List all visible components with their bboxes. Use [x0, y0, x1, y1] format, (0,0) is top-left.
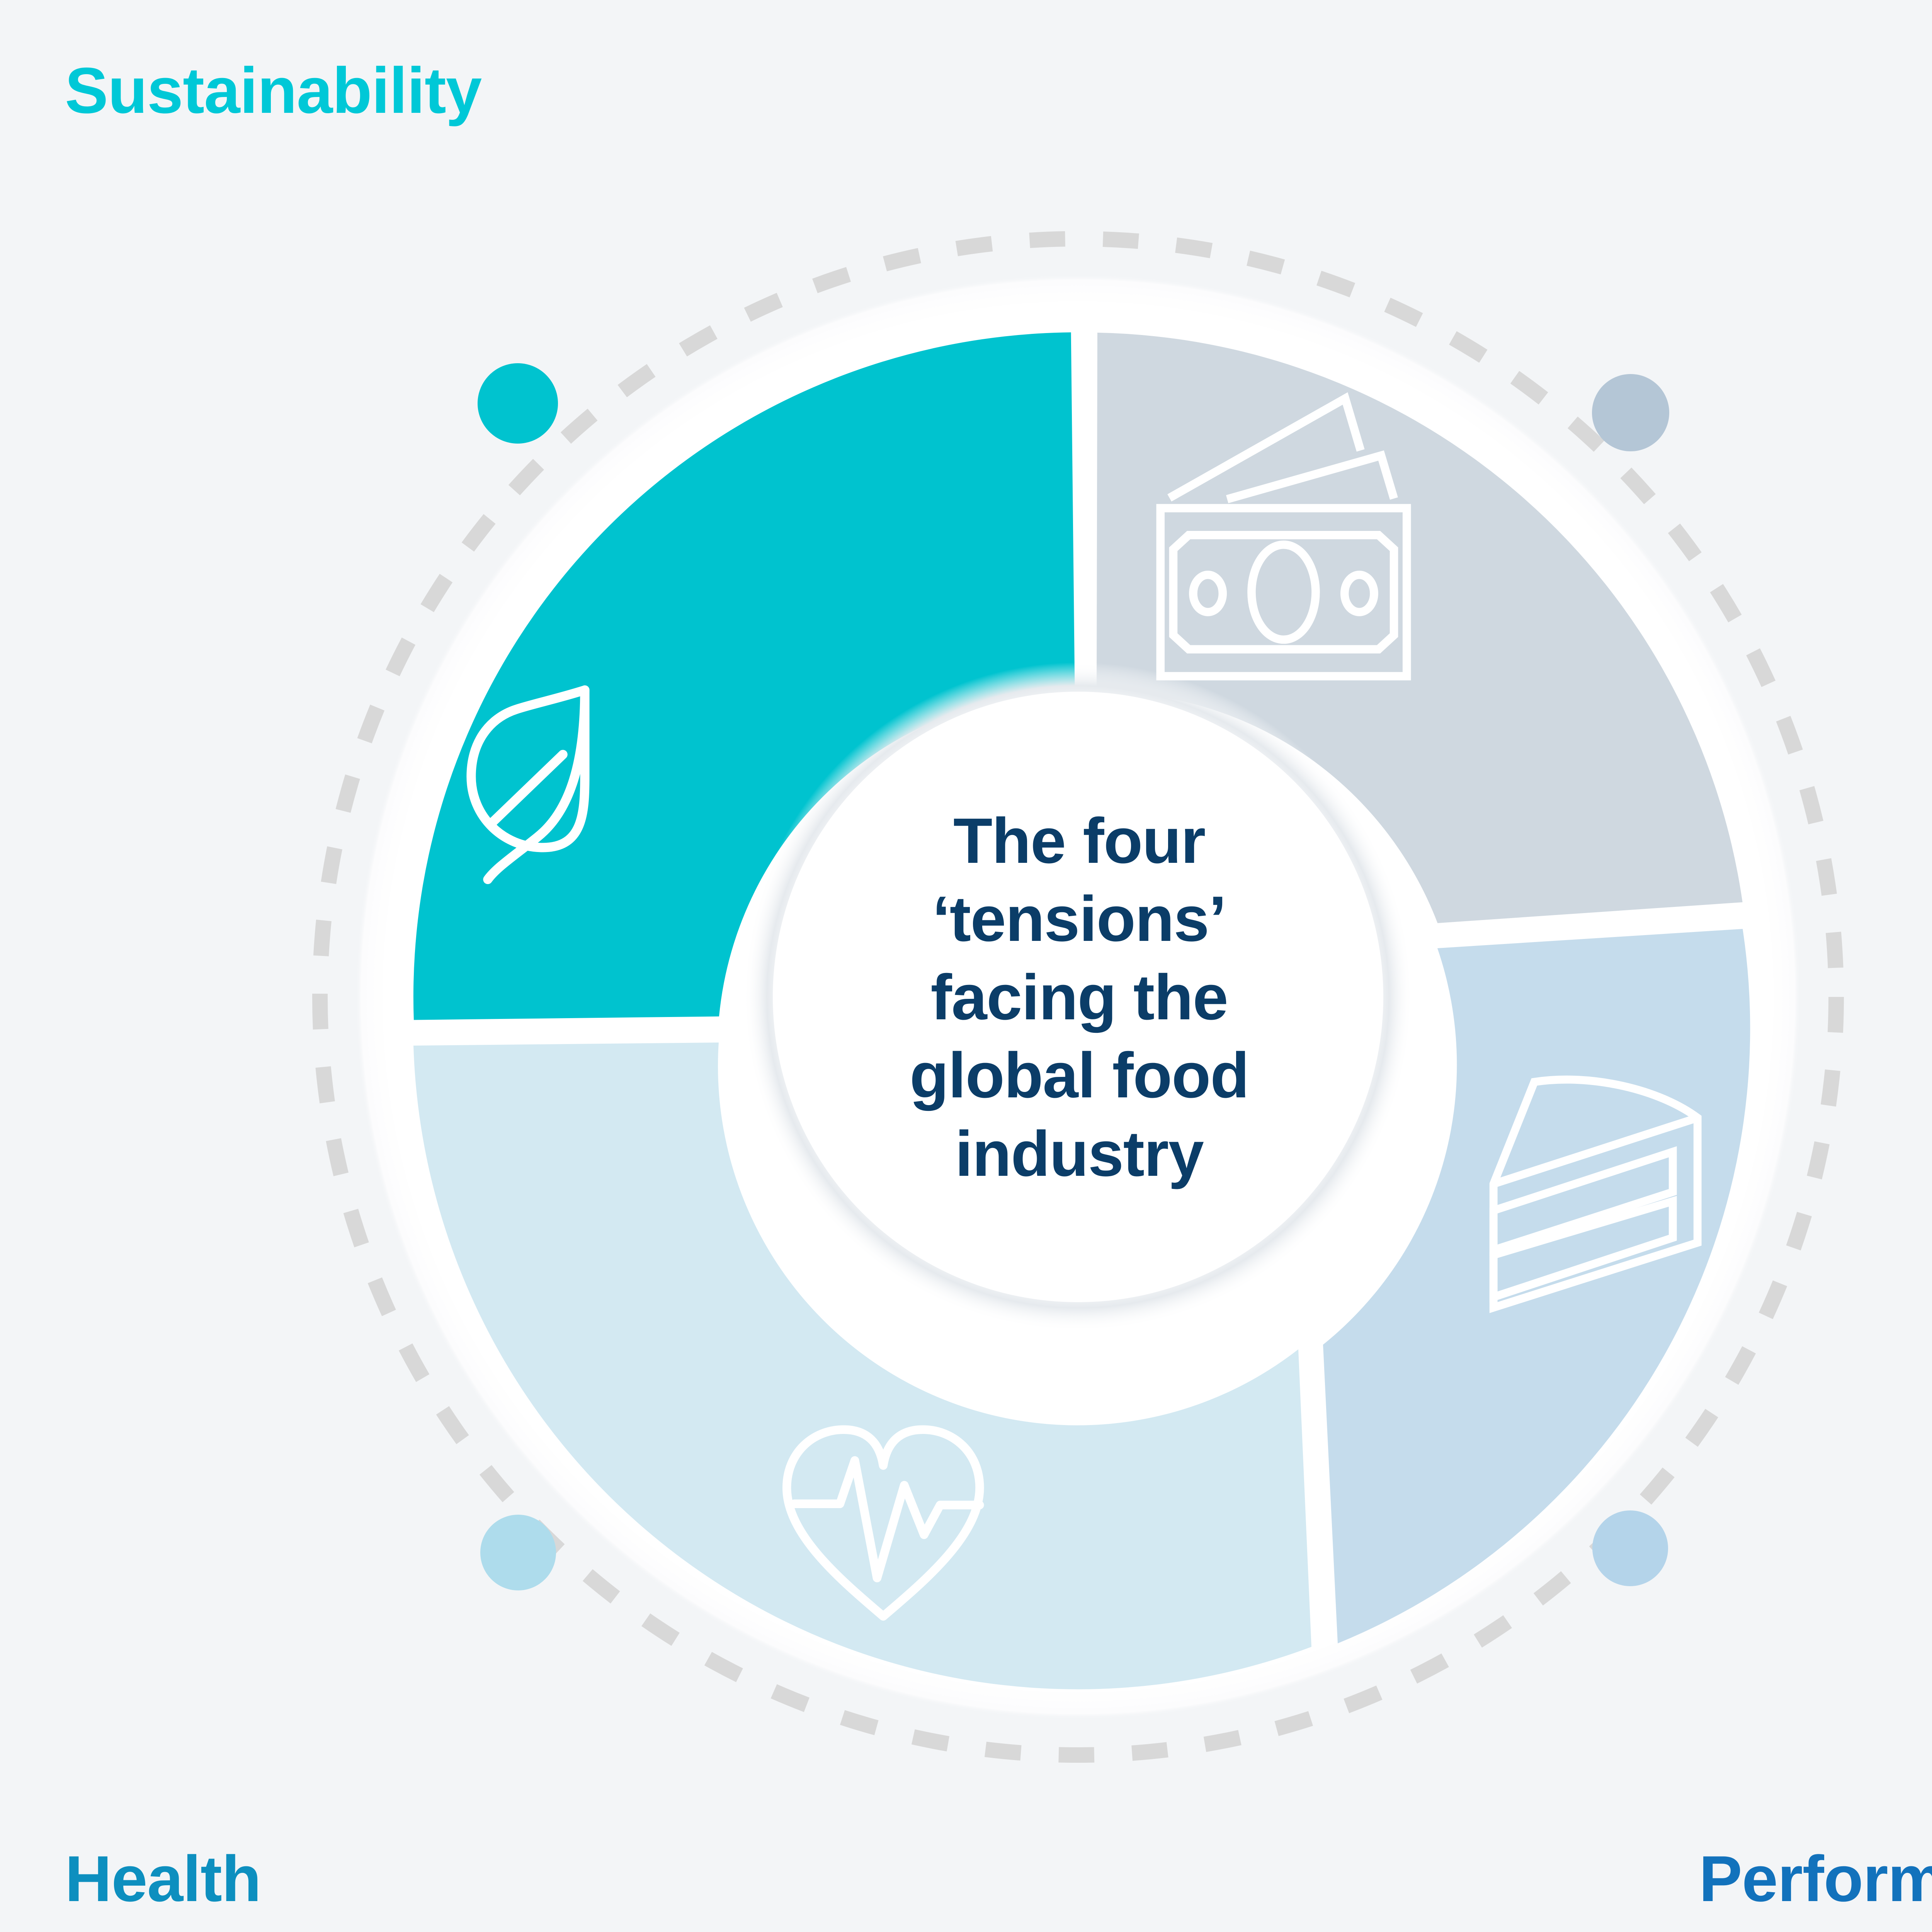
tension-wheel — [0, 0, 1932, 1932]
inner-disc — [773, 692, 1383, 1302]
marker-dot-health[interactable] — [480, 1515, 556, 1590]
diagram-canvas: Sustainability Cost Health Performance — [0, 0, 1932, 1932]
marker-dot-sustainability[interactable] — [478, 363, 558, 444]
marker-dot-performance[interactable] — [1592, 1510, 1668, 1586]
marker-dot-cost[interactable] — [1592, 374, 1669, 451]
